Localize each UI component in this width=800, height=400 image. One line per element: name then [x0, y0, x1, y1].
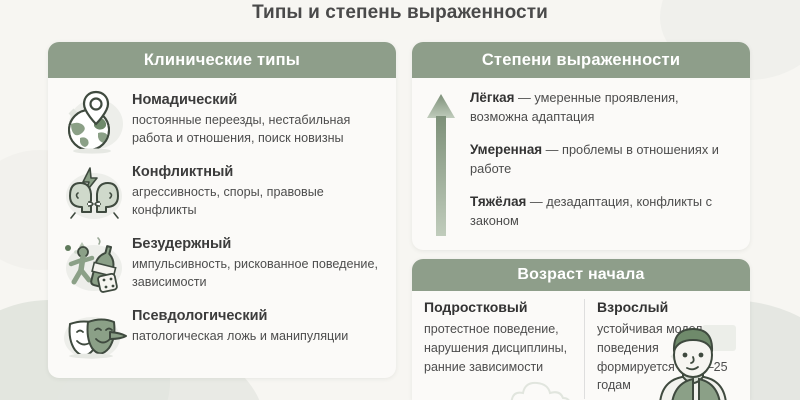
severity-name: Умеренная: [470, 142, 542, 157]
list-item-desc: импульсивность, рискованное поведение, з…: [132, 256, 384, 292]
list-item: Безудержный импульсивность, рискованное …: [48, 228, 396, 300]
running-bottle-dice-icon: [58, 232, 132, 298]
clinical-types-list: Номадический постоянные переезды, нестаб…: [48, 78, 396, 372]
list-item: Умеренная — проблемы в отношениях и рабо…: [470, 140, 736, 178]
age-column-title: Взрослый: [597, 299, 738, 315]
page-title: Типы и степень выраженности: [0, 2, 800, 24]
list-item-desc: патологическая ложь и манипуляции: [132, 328, 348, 346]
list-item-text: Номадический постоянные переезды, нестаб…: [132, 88, 384, 147]
up-arrow-icon: [412, 88, 470, 238]
theater-masks-icon: [58, 304, 132, 370]
list-item-title: Псевдологический: [132, 308, 348, 325]
list-item: Конфликтный агрессивность, споры, правов…: [48, 156, 396, 228]
adult-man-icon: [650, 323, 746, 400]
list-item-title: Номадический: [132, 92, 384, 109]
list-item-desc: постоянные переезды, нестабильная работа…: [132, 112, 384, 148]
list-item: Тяжёлая — дезадаптация, конфликты с зако…: [470, 192, 736, 230]
severity-dash: —: [514, 90, 534, 105]
list-item-text: Безудержный импульсивность, рискованное …: [132, 232, 384, 291]
list-item: Псевдологический патологическая ложь и м…: [48, 300, 396, 372]
list-item-title: Безудержный: [132, 236, 384, 253]
clinical-types-header: Клинические типы: [48, 42, 396, 78]
severity-body: Лёгкая — умеренные проявления, возможна …: [412, 78, 750, 238]
severity-list: Лёгкая — умеренные проявления, возможна …: [470, 88, 750, 238]
list-item-title: Конфликтный: [132, 164, 384, 181]
age-of-onset-card: Возраст начала Подростковый протестное п…: [412, 259, 750, 400]
age-column-title: Подростковый: [424, 299, 572, 315]
severity-card: Степени выраженности Лёгкая — умеренные …: [412, 42, 750, 250]
age-column-desc: протестное поведение, нарушения дисципли…: [424, 320, 572, 376]
decorative-cloud-shape: [508, 375, 594, 400]
age-of-onset-header: Возраст начала: [412, 259, 750, 291]
severity-dash: —: [526, 194, 546, 209]
globe-pin-icon: [58, 88, 132, 154]
severity-dash: —: [542, 142, 562, 157]
list-item-desc: агрессивность, споры, правовые конфликты: [132, 184, 384, 220]
list-item: Номадический постоянные переезды, нестаб…: [48, 84, 396, 156]
severity-name: Лёгкая: [470, 90, 514, 105]
list-item-text: Конфликтный агрессивность, споры, правов…: [132, 160, 384, 219]
list-item: Лёгкая — умеренные проявления, возможна …: [470, 88, 736, 126]
severity-name: Тяжёлая: [470, 194, 526, 209]
age-of-onset-body: Подростковый протестное поведение, наруш…: [412, 291, 750, 399]
arguing-heads-icon: [58, 160, 132, 226]
severity-header: Степени выраженности: [412, 42, 750, 78]
clinical-types-card: Клинические типы: [48, 42, 396, 378]
list-item-text: Псевдологический патологическая ложь и м…: [132, 304, 348, 346]
